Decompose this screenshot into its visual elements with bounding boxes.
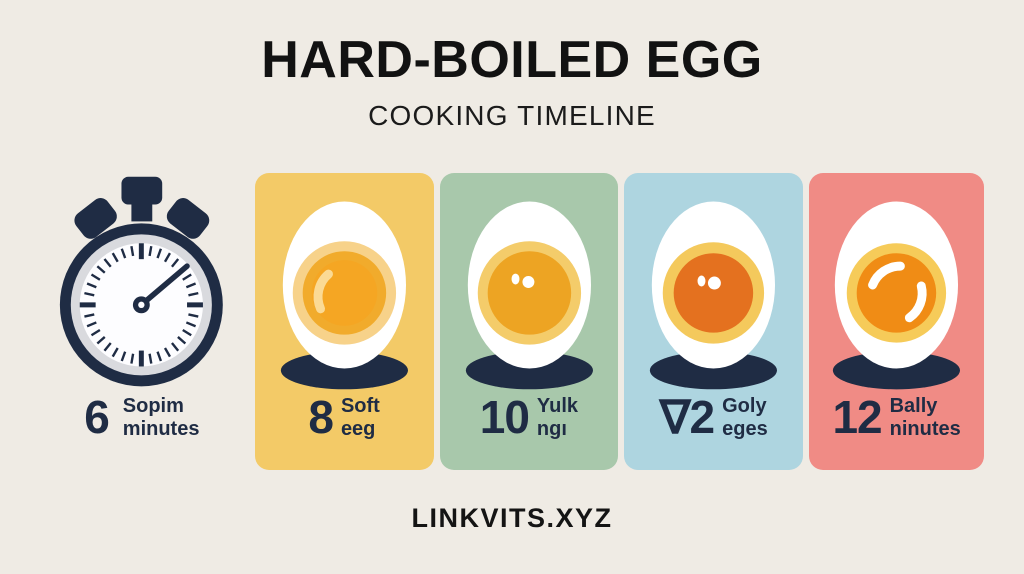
panel-number-4: 12 <box>832 396 881 440</box>
panel-label-2: Yulk ngı <box>537 395 578 440</box>
page-title: HARD-BOILED EGG <box>0 34 1024 86</box>
panel-caption-1: 8 Soft eeg <box>255 395 434 440</box>
panel-label-1: Soft eeg <box>341 395 380 440</box>
timeline-panel-3: ∇2 Goly eges <box>624 173 803 470</box>
timeline-panel-4: 12 Bally ninutes <box>809 173 984 470</box>
stopwatch-icon <box>40 173 244 395</box>
title-block: HARD-BOILED EGG COOKING TIMELINE <box>0 34 1024 130</box>
footer-watermark: LINKVITS.XYZ <box>0 503 1024 534</box>
boiled-egg-icon <box>809 173 984 395</box>
panel-label-0: Sopim minutes <box>123 395 200 440</box>
panel-label-4: Bally ninutes <box>890 395 961 440</box>
timeline-row: 6 Sopim minutes 8 Soft eeg <box>40 173 984 470</box>
panel-caption-4: 12 Bally ninutes <box>809 395 984 440</box>
page-subtitle: COOKING TIMELINE <box>0 102 1024 130</box>
boiled-egg-icon <box>255 173 434 395</box>
poster-canvas: HARD-BOILED EGG COOKING TIMELINE <box>0 0 1024 574</box>
boiled-egg-icon <box>440 173 619 395</box>
panel-number-0: 6 <box>84 396 109 440</box>
boiled-egg-icon <box>624 173 803 395</box>
timeline-panel-2: 10 Yulk ngı <box>440 173 619 470</box>
panel-number-2: 10 <box>480 396 529 440</box>
timeline-panel-1: 8 Soft eeg <box>255 173 434 470</box>
panel-caption-0: 6 Sopim minutes <box>40 395 244 440</box>
panel-number-3: ∇2 <box>660 396 714 440</box>
timeline-panel-0: 6 Sopim minutes <box>40 173 244 470</box>
panel-label-3: Goly eges <box>722 395 768 440</box>
panel-caption-3: ∇2 Goly eges <box>624 395 803 440</box>
panel-number-1: 8 <box>308 396 333 440</box>
panel-caption-2: 10 Yulk ngı <box>440 395 619 440</box>
